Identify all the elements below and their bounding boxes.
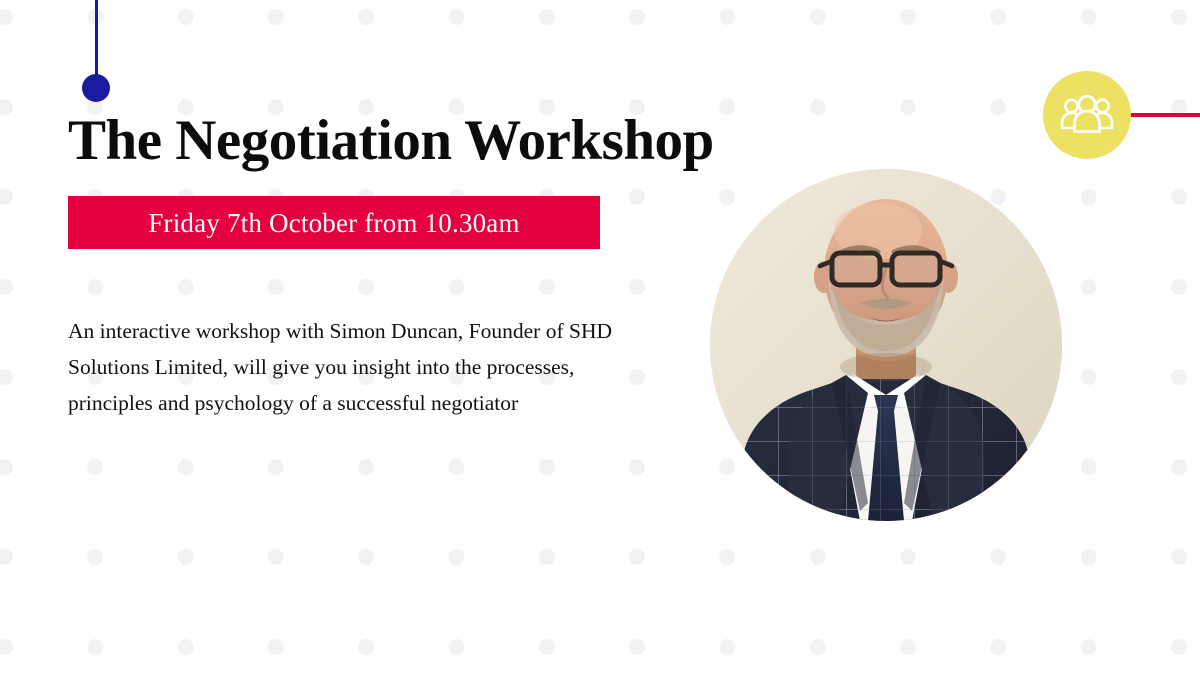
people-group-icon (1060, 95, 1114, 135)
date-banner: Friday 7th October from 10.30am (68, 196, 600, 249)
slide-body-copy: An interactive workshop with Simon Dunca… (68, 313, 628, 421)
speaker-portrait (710, 169, 1062, 521)
slide-headline: The Negotiation Workshop (68, 107, 714, 175)
navy-dot-accent (82, 74, 110, 102)
date-banner-text: Friday 7th October from 10.30am (148, 208, 519, 238)
people-badge (1043, 71, 1131, 159)
slide-canvas: The Negotiation Workshop Friday 7th Octo… (0, 0, 1200, 675)
crimson-horizontal-rule (1126, 113, 1200, 117)
navy-vertical-line (95, 0, 98, 82)
